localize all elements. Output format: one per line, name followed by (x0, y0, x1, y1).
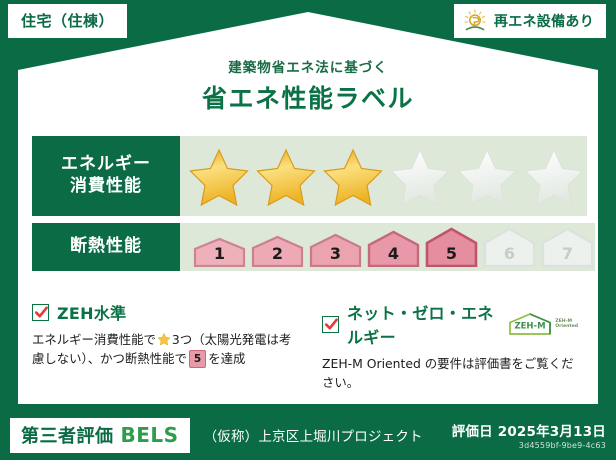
zeh-text-before-star: エネルギー消費性能で (32, 332, 156, 347)
zeh-m-logo-subtext: ZEH-M Oriented (555, 319, 578, 330)
bels-en-label: BELS (121, 423, 179, 447)
net-zero-criteria-title: ネット・ゼロ・エネルギー (347, 300, 495, 348)
evaluation-info: 評価日 2025年3月13日 3d4559bf-9be9-4c63 (452, 420, 606, 450)
inline-star-icon (157, 332, 171, 346)
insulation-level-house-inactive: 7 (540, 227, 595, 267)
star-filled-icon (253, 145, 319, 208)
zeh-m-sub-line2: Oriented (555, 324, 578, 329)
star-filled-icon (186, 145, 252, 208)
label-heading: 建築物省エネ法に基づく 省エネ性能ラベル (0, 56, 616, 115)
bels-jp-label: 第三者評価 (21, 422, 114, 448)
zeh-checkbox (32, 304, 49, 321)
zeh-criteria-text: エネルギー消費性能で3つ（太陽光発電は考慮しない）、かつ断熱性能で5を達成 (32, 330, 300, 368)
star-empty-icon (387, 145, 453, 208)
insulation-level-house: 2 (250, 235, 305, 267)
energy-label-line2: 消費性能 (70, 176, 142, 198)
bels-logo: 第三者評価 BELS (10, 418, 190, 453)
energy-performance-value (180, 136, 587, 216)
building-type-label: 住宅（住棟） (21, 12, 114, 30)
project-name: （仮称）上京区上堀川プロジェクト (204, 425, 423, 445)
zeh-m-house-icon: ZEH-M (507, 312, 553, 336)
insulation-level-house-inactive: 6 (482, 227, 537, 267)
star-rating (186, 145, 587, 208)
zeh-criteria-column: ZEH水準 エネルギー消費性能で3つ（太陽光発電は考慮しない）、かつ断熱性能で5… (32, 300, 310, 392)
star-filled-icon (320, 145, 386, 208)
zeh-criteria-title: ZEH水準 (57, 300, 126, 324)
insulation-level-number: 6 (482, 244, 537, 263)
net-zero-criteria-text: ZEH-M Oriented の要件は評価書をご覧ください。 (322, 354, 578, 392)
check-icon (34, 305, 49, 320)
evaluation-date: 評価日 2025年3月13日 (452, 420, 606, 440)
insulation-level-house: 3 (308, 233, 363, 267)
net-zero-criteria-header: ネット・ゼロ・エネルギー ZEH-M ZEH-M Oriented (322, 300, 578, 348)
star-empty-icon (454, 145, 520, 208)
energy-label-line1: エネルギー (61, 154, 151, 176)
heading-subtitle: 建築物省エネ法に基づく (0, 56, 616, 76)
insulation-level-number: 7 (540, 244, 595, 263)
star-empty-icon (521, 145, 587, 208)
insulation-performance-row: 断熱性能 1 2 (32, 223, 585, 271)
insulation-performance-value: 1 2 3 (180, 223, 595, 271)
insulation-level-number: 2 (250, 244, 305, 263)
building-type-tag: 住宅（住棟） (8, 4, 127, 38)
renewable-energy-badge: 再エネ設備あり (454, 4, 606, 38)
label-footer: 第三者評価 BELS （仮称）上京区上堀川プロジェクト 評価日 2025年3月1… (0, 410, 616, 460)
insulation-level-house: 4 (366, 230, 421, 267)
insulation-level-house: 1 (192, 237, 247, 267)
insulation-level-number: 5 (424, 244, 479, 263)
insulation-level-scale: 1 2 3 (192, 227, 595, 267)
net-zero-criteria-column: ネット・ゼロ・エネルギー ZEH-M ZEH-M Oriented ZEH-M … (310, 300, 588, 392)
insulation-performance-label: 断熱性能 (32, 223, 180, 271)
zeh-level-chip: 5 (189, 350, 206, 368)
insulation-level-number: 4 (366, 244, 421, 263)
zeh-m-logo: ZEH-M ZEH-M Oriented (507, 312, 578, 336)
heading-title: 省エネ性能ラベル (0, 79, 616, 115)
energy-performance-row: エネルギー 消費性能 (32, 136, 585, 216)
insulation-label-text: 断熱性能 (70, 236, 142, 258)
sun-icon (462, 9, 488, 33)
energy-performance-label: エネルギー 消費性能 (32, 136, 180, 216)
rating-rows: エネルギー 消費性能 (32, 136, 585, 278)
insulation-level-number: 3 (308, 244, 363, 263)
evaluation-id: 3d4559bf-9be9-4c63 (452, 441, 606, 450)
criteria-section: ZEH水準 エネルギー消費性能で3つ（太陽光発電は考慮しない）、かつ断熱性能で5… (32, 300, 588, 392)
check-icon (324, 317, 339, 332)
net-zero-checkbox (322, 316, 339, 333)
zeh-m-logo-text: ZEH-M (515, 322, 546, 332)
insulation-level-house-achieved: 5 (424, 227, 479, 267)
energy-performance-label: 住宅（住棟） 再エネ設備あり 建築物省エネ法に基づく 省エネ性能ラベル (0, 0, 616, 460)
insulation-level-number: 1 (192, 244, 247, 263)
zeh-m-sub-line1: ZEH-M (555, 319, 572, 324)
zeh-text-end: を達成 (208, 351, 245, 366)
renewable-badge-label: 再エネ設備あり (494, 11, 594, 31)
zeh-criteria-header: ZEH水準 (32, 300, 300, 324)
